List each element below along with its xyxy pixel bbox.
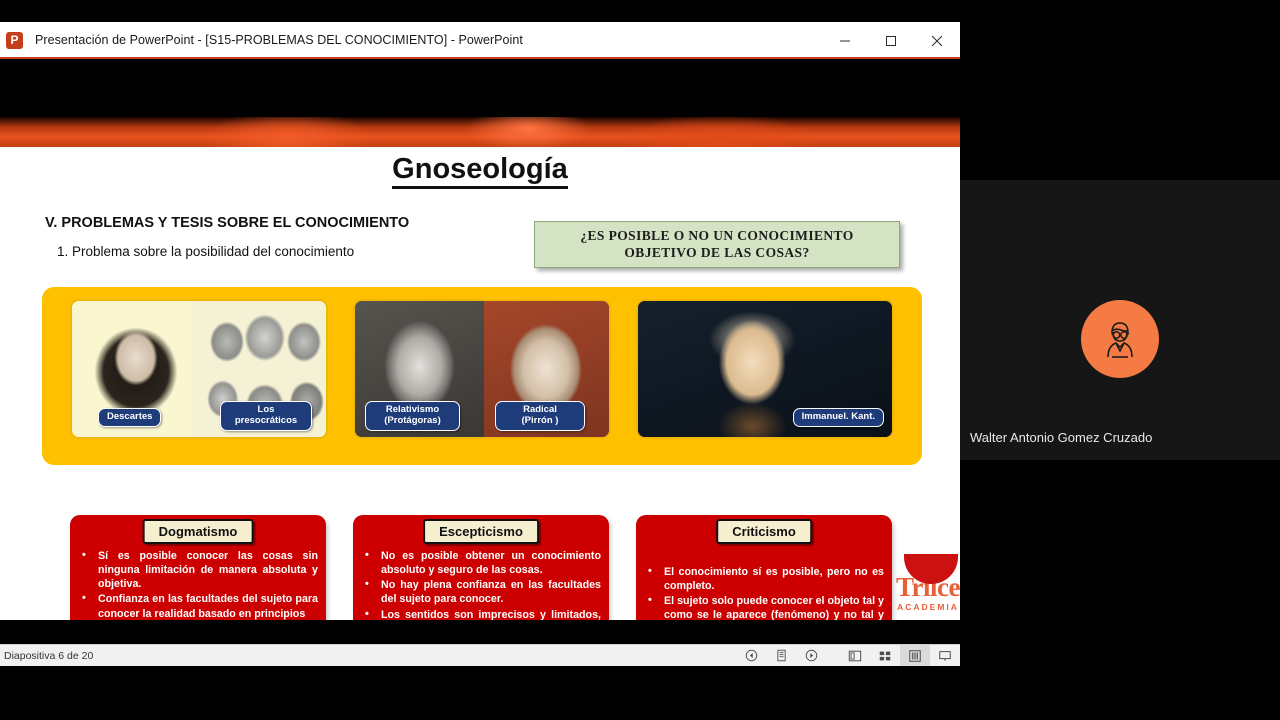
list-item: No hay plena confianza en las facultades… (361, 578, 601, 606)
title-bar: P Presentación de PowerPoint - [S15-PROB… (0, 22, 960, 59)
card-title-escepticismo: Escepticismo (423, 519, 539, 544)
card-escepticismo: Escepticismo No es posible obtener un co… (353, 515, 609, 620)
trilce-logo-subtitle: ACADEMIA (896, 602, 960, 612)
photo-strip-criticismo: Immanuel. Kant. (636, 299, 894, 439)
previous-slide-icon[interactable] (736, 645, 766, 667)
card-bullets-criticismo: El conocimiento sí es posible, pero no e… (644, 565, 884, 620)
avatar (1081, 300, 1159, 378)
trilce-logo: Trilce ACADEMIA (896, 574, 960, 612)
status-bar: Diapositiva 6 de 20 (0, 644, 960, 666)
slide-sorter-icon[interactable] (870, 645, 900, 667)
label-presocraticos-line2: presocráticos (229, 416, 303, 427)
question-line-2: OBJETIVO DE LAS COSAS? (580, 245, 853, 262)
window-title: Presentación de PowerPoint - [S15-PROBLE… (35, 33, 523, 47)
notes-icon[interactable] (766, 645, 796, 667)
photo-strip-escepticismo: Relativismo (Protágoras) Radical (Pirrón… (353, 299, 611, 439)
trilce-logo-name: Trilce (896, 574, 960, 601)
page-title: Gnoseología (0, 153, 960, 186)
trilce-logo-blob (904, 554, 958, 584)
label-presocraticos: Los presocráticos (220, 401, 312, 431)
label-relativismo: Relativismo (Protágoras) (365, 401, 460, 431)
section-subheading: 1. Problema sobre la posibilidad del con… (57, 244, 354, 259)
photo-strip-dogmatismo: Descartes Los presocráticos (70, 299, 328, 439)
question-line-1: ¿ES POSIBLE O NO UN CONOCIMIENTO (580, 228, 853, 245)
powerpoint-window: P Presentación de PowerPoint - [S15-PROB… (0, 22, 960, 682)
minimize-icon[interactable] (822, 22, 868, 59)
list-item: El conocimiento sí es posible, pero no e… (644, 565, 884, 593)
question-callout: ¿ES POSIBLE O NO UN CONOCIMIENTO OBJETIV… (534, 221, 900, 268)
close-icon[interactable] (914, 22, 960, 59)
card-bullets-escepticismo: No es posible obtener un conocimiento ab… (361, 549, 601, 620)
slide-canvas[interactable]: Gnoseología V. PROBLEMAS Y TESIS SOBRE E… (0, 117, 960, 620)
participant-name: Walter Antonio Gomez Cruzado (970, 430, 1152, 445)
card-criticismo: Criticismo El conocimiento sí es posible… (636, 515, 892, 620)
slide-indicator: Diapositiva 6 de 20 (4, 650, 93, 662)
lower-black-area (0, 666, 960, 720)
label-relativismo-line2: (Protágoras) (374, 416, 451, 427)
powerpoint-icon: P (6, 32, 23, 49)
list-item: Sí es posible conocer las cosas sin ning… (78, 549, 318, 591)
next-slide-icon[interactable] (796, 645, 826, 667)
screen-root: P Presentación de PowerPoint - [S15-PROB… (0, 0, 1280, 720)
slide-host: Gnoseología V. PROBLEMAS Y TESIS SOBRE E… (0, 59, 960, 644)
participant-tile[interactable] (960, 180, 1280, 460)
label-kant: Immanuel. Kant. (793, 408, 884, 427)
list-item: Los sentidos son imprecisos y limitados,… (361, 608, 601, 621)
reading-view-icon[interactable] (900, 645, 930, 667)
card-dogmatismo: Dogmatismo Sí es posible conocer las cos… (70, 515, 326, 620)
section-heading: V. PROBLEMAS Y TESIS SOBRE EL CONOCIMIEN… (45, 215, 409, 231)
list-item: No es posible obtener un conocimiento ab… (361, 549, 601, 577)
normal-view-icon[interactable] (840, 645, 870, 667)
slideshow-icon[interactable] (930, 645, 960, 667)
maximize-icon[interactable] (868, 22, 914, 59)
window-controls (822, 22, 960, 59)
label-radical: Radical (Pirrón ) (495, 401, 585, 431)
label-radical-line2: (Pirrón ) (504, 416, 576, 427)
page-title-text: Gnoseología (392, 153, 568, 189)
participant-panel: Walter Antonio Gomez Cruzado (960, 0, 1280, 720)
card-title-dogmatismo: Dogmatismo (143, 519, 254, 544)
list-item: El sujeto solo puede conocer el objeto t… (644, 594, 884, 620)
card-title-criticismo: Criticismo (716, 519, 812, 544)
card-bullets-dogmatismo: Sí es posible conocer las cosas sin ning… (78, 549, 318, 620)
person-with-glasses-icon (1095, 314, 1145, 364)
slide-banner-image (0, 117, 960, 147)
status-bar-icons (736, 645, 960, 667)
label-descartes: Descartes (98, 408, 161, 427)
list-item: Confianza en las facultades del sujeto p… (78, 592, 318, 620)
